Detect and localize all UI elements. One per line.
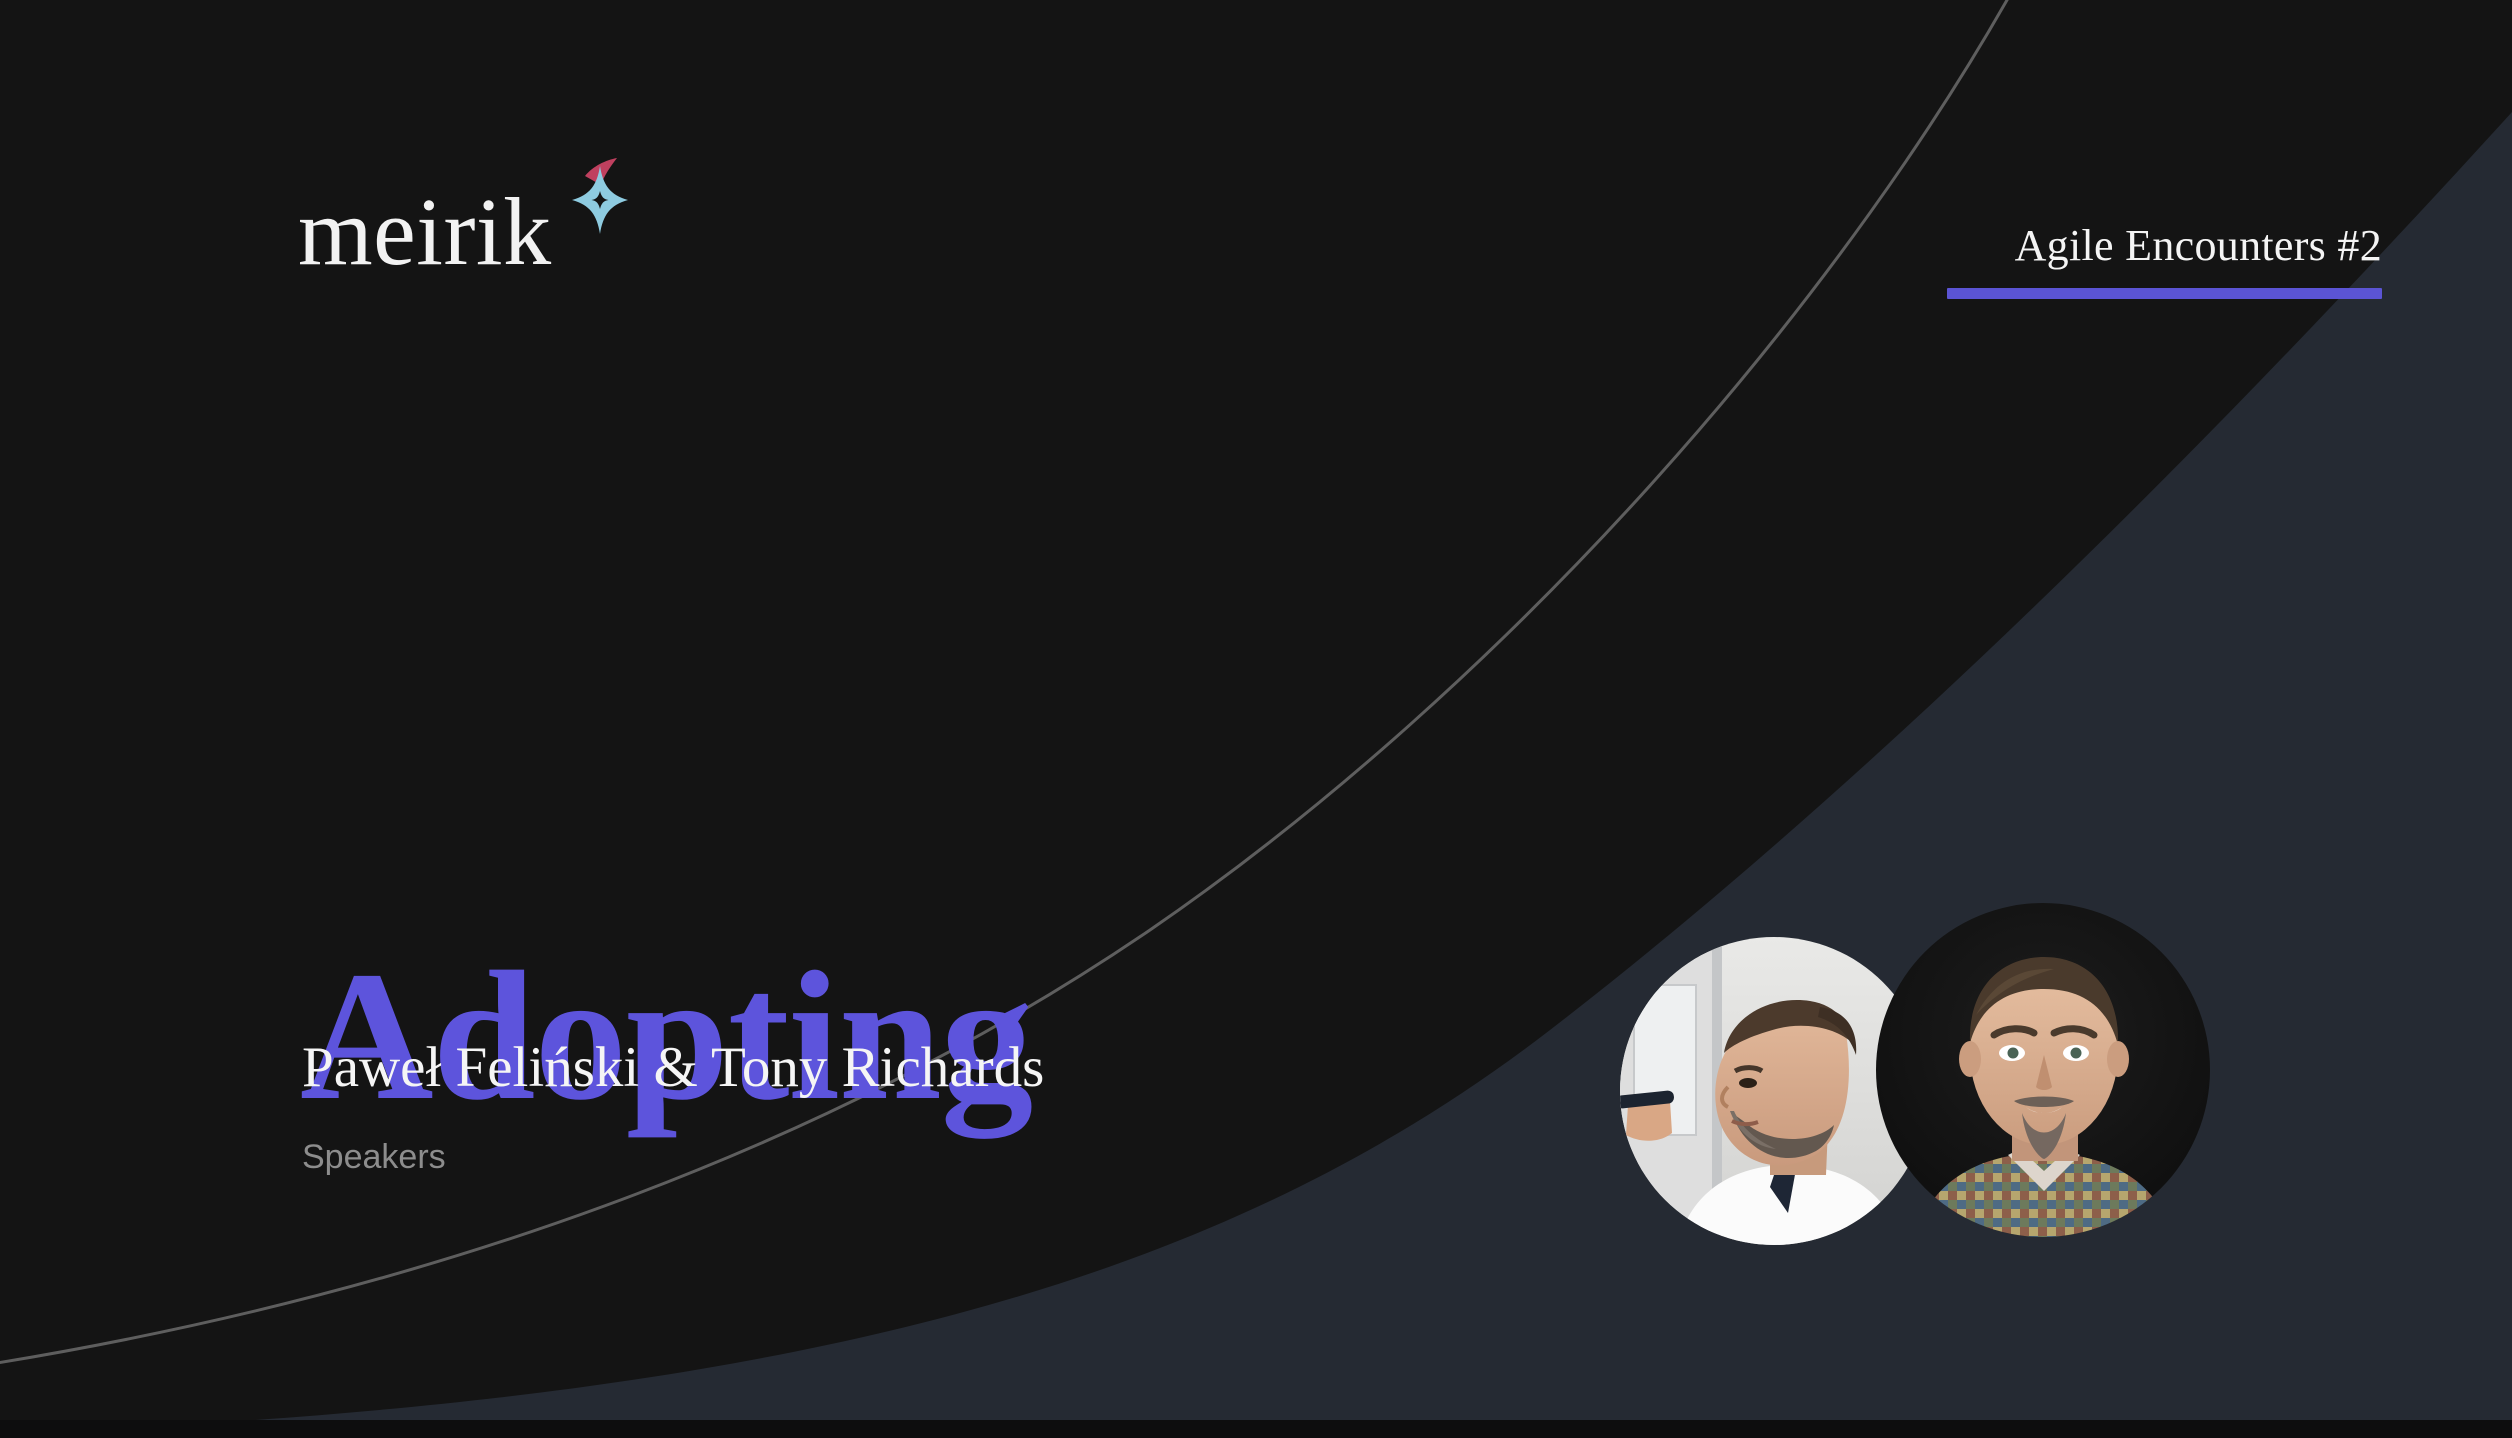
brand-logo[interactable]: meirik	[298, 158, 638, 288]
presentation-slide: meirik Agile Encounters #2 Adopting Agil…	[0, 0, 2512, 1438]
event-title: Agile Encounters #2	[1947, 222, 2382, 270]
speaker-avatars	[1620, 895, 2240, 1255]
speaker-names: Paweł Feliński & Tony Richards	[302, 1035, 1044, 1101]
speaker-photo-right	[1876, 903, 2210, 1237]
logo-wordmark: meirik	[298, 184, 552, 280]
sparkle-icon	[560, 158, 630, 238]
event-underline-rule	[1947, 288, 2382, 299]
avatar	[1876, 903, 2210, 1237]
bottom-strip	[0, 1420, 2512, 1438]
speakers-label: Speakers	[302, 1137, 1044, 1178]
speakers-block: Paweł Feliński & Tony Richards Speakers	[302, 1035, 1044, 1177]
event-badge: Agile Encounters #2	[1947, 222, 2382, 299]
page-title: Adopting Agile Mindset	[300, 574, 1392, 1438]
